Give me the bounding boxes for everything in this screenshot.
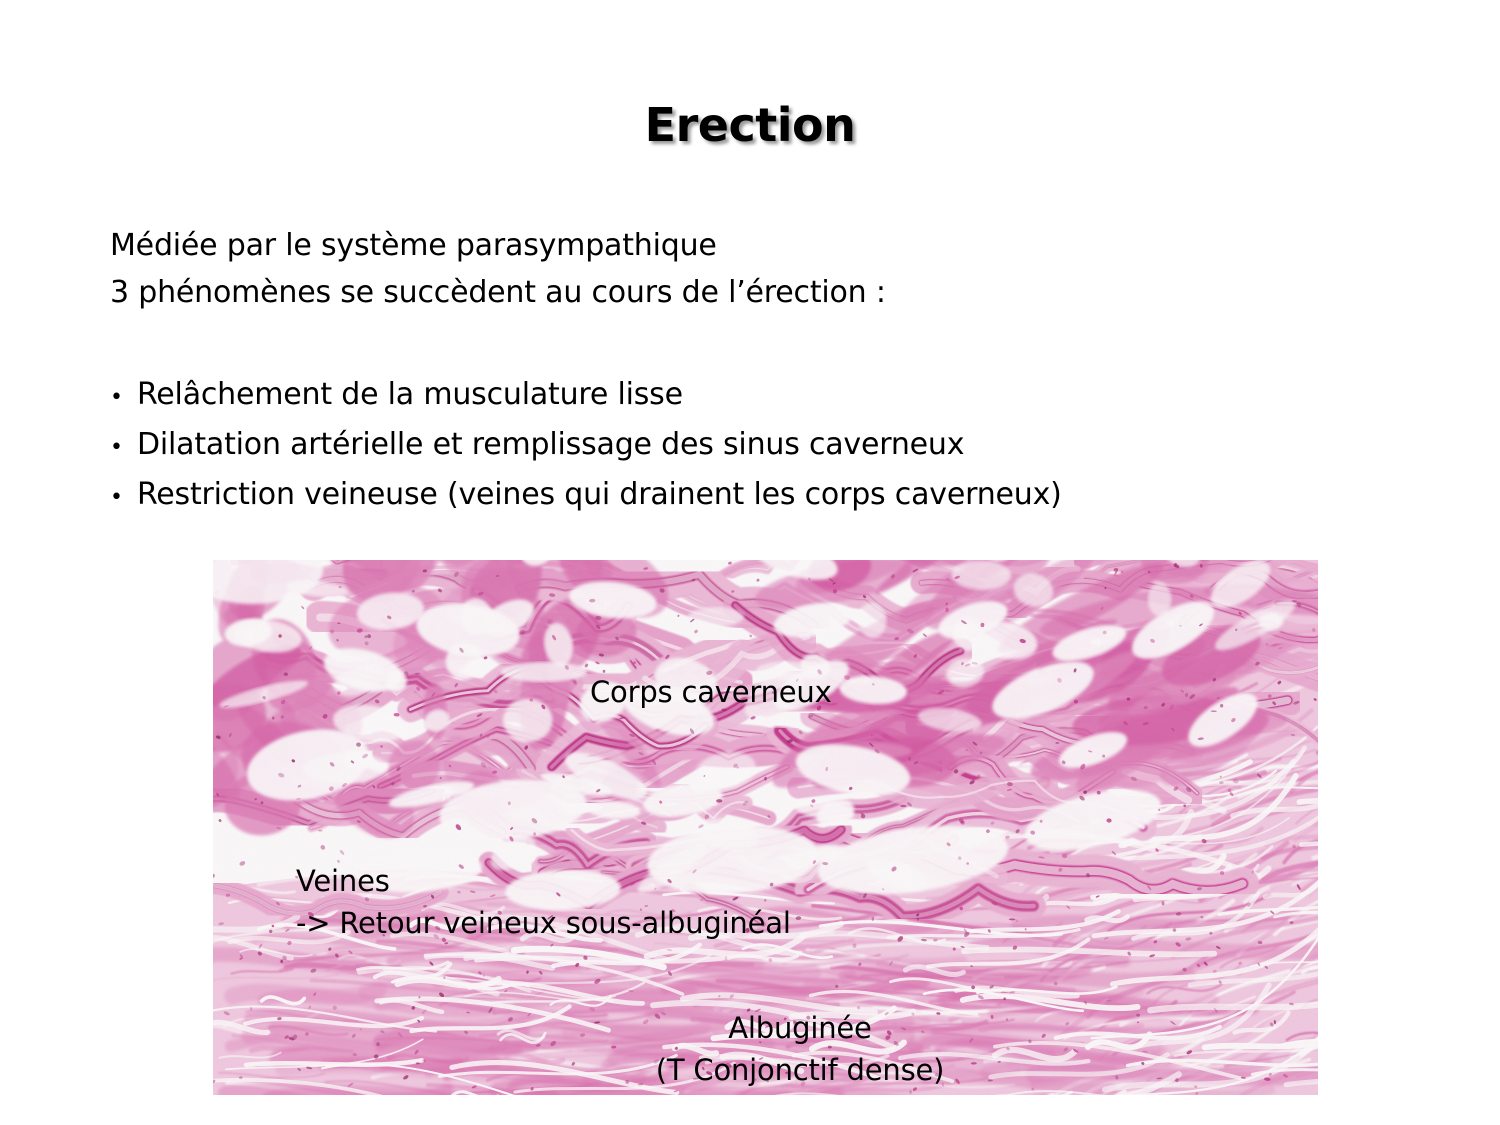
intro-line-2: 3 phénomènes se succèdent au cours de l’… bbox=[110, 269, 1260, 316]
bullet-list: • Relâchement de la musculature lisse • … bbox=[110, 371, 1310, 521]
bullet-label: Relâchement de la musculature lisse bbox=[137, 371, 683, 418]
bullet-label: Restriction veineuse (veines qui drainen… bbox=[137, 471, 1062, 518]
figure-label-veines: Veines -> Retour veineux sous-albuginéal bbox=[296, 861, 791, 943]
figure-label-veines-detail: -> Retour veineux sous-albuginéal bbox=[296, 903, 791, 943]
figure-label-albuginee: Albuginée (T Conjonctif dense) bbox=[590, 1008, 1010, 1090]
figure-label-veines-title: Veines bbox=[296, 861, 791, 901]
intro-line-1: Médiée par le système parasympathique bbox=[110, 222, 1260, 269]
figure-label-albuginee-detail: (T Conjonctif dense) bbox=[590, 1050, 1010, 1090]
figure-label-corps-caverneux: Corps caverneux bbox=[590, 672, 832, 712]
list-item: • Relâchement de la musculature lisse bbox=[110, 371, 1310, 421]
page-title: Erection bbox=[0, 97, 1500, 153]
bullet-point-icon: • bbox=[110, 374, 137, 421]
bullet-point-icon: • bbox=[110, 424, 137, 471]
bullet-label: Dilatation artérielle et remplissage des… bbox=[137, 421, 964, 468]
list-item: • Restriction veineuse (veines qui drain… bbox=[110, 471, 1310, 521]
bullet-point-icon: • bbox=[110, 474, 137, 521]
figure-label-albuginee-title: Albuginée bbox=[590, 1008, 1010, 1048]
intro-text-block: Médiée par le système parasympathique 3 … bbox=[110, 222, 1260, 316]
list-item: • Dilatation artérielle et remplissage d… bbox=[110, 421, 1310, 471]
slide-canvas: Erection Médiée par le système parasympa… bbox=[0, 0, 1500, 1125]
